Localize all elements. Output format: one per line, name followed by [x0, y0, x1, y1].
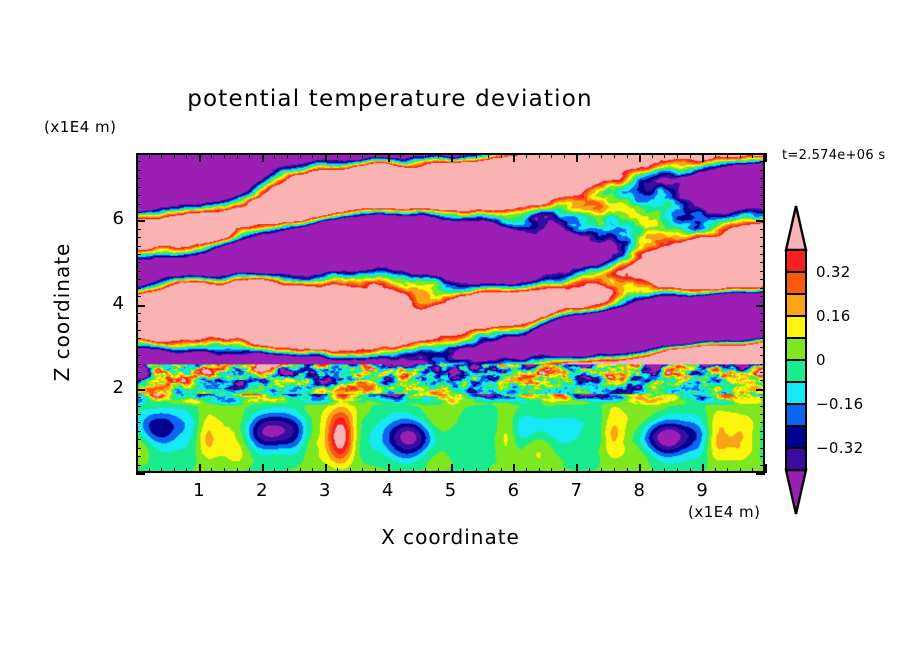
x-tick-major	[451, 464, 453, 473]
y-tick-minor	[136, 313, 141, 314]
x-tick-top-major	[325, 153, 327, 162]
y-tick-right-minor	[760, 254, 765, 255]
x-tick-minor	[752, 468, 753, 473]
x-tick-top-minor	[539, 153, 540, 158]
x-tick-top-minor	[476, 153, 477, 158]
x-tick-major	[639, 464, 641, 473]
y-axis-title: Z coordinate	[50, 212, 74, 412]
x-tick-minor	[627, 468, 628, 473]
y-tick-right-minor	[760, 330, 765, 331]
x-tick-top-minor	[300, 153, 301, 158]
x-tick-top-minor	[274, 153, 275, 158]
y-tick-minor	[136, 195, 141, 196]
x-tick-top-minor	[614, 153, 615, 158]
x-tick-minor	[287, 468, 288, 473]
x-tick-minor	[677, 468, 678, 473]
y-tick-right-minor	[760, 321, 765, 322]
x-tick-top-minor	[564, 153, 565, 158]
x-tick-minor	[362, 468, 363, 473]
x-tick-top-minor	[174, 153, 175, 158]
y-tick-minor	[136, 431, 141, 432]
x-tick-minor	[690, 468, 691, 473]
y-tick-right-minor	[760, 262, 765, 263]
x-tick-top-major	[451, 153, 453, 162]
x-tick-top-minor	[715, 153, 716, 158]
x-tick-minor	[300, 468, 301, 473]
x-tick-label: 2	[242, 480, 282, 501]
y-tick-minor	[136, 178, 141, 179]
x-tick-top-major	[199, 153, 201, 162]
x-tick-top-minor	[287, 153, 288, 158]
x-tick-top-minor	[627, 153, 628, 158]
x-tick-minor	[149, 468, 150, 473]
colorbar-band	[786, 316, 806, 338]
x-tick-major	[513, 464, 515, 473]
y-tick-major	[136, 220, 145, 222]
x-tick-minor	[237, 468, 238, 473]
y-tick-label: 4	[84, 293, 124, 314]
x-tick-label: 7	[556, 480, 596, 501]
x-tick-top-minor	[438, 153, 439, 158]
plot-area	[136, 153, 765, 473]
y-tick-minor	[136, 456, 141, 457]
y-tick-minor	[136, 347, 141, 348]
x-tick-top-major	[702, 153, 704, 162]
y-tick-minor	[136, 212, 141, 213]
y-tick-right-minor	[760, 380, 765, 381]
x-tick-label: 5	[431, 480, 471, 501]
y-tick-right-minor	[760, 397, 765, 398]
x-tick-label: 6	[493, 480, 533, 501]
y-tick-minor	[136, 330, 141, 331]
x-tick-minor	[312, 468, 313, 473]
y-tick-right-minor	[760, 422, 765, 423]
x-tick-minor	[274, 468, 275, 473]
x-tick-major	[262, 464, 264, 473]
x-tick-major	[199, 464, 201, 473]
y-tick-right-minor	[760, 364, 765, 365]
y-tick-right-minor	[760, 355, 765, 356]
x-tick-top-minor	[677, 153, 678, 158]
x-tick-top-minor	[752, 153, 753, 158]
colorbar-svg	[782, 204, 810, 516]
y-tick-minor	[136, 271, 141, 272]
y-tick-right-minor	[760, 178, 765, 179]
colorbar-band	[786, 448, 806, 470]
x-tick-minor	[174, 468, 175, 473]
y-tick-right-minor	[760, 414, 765, 415]
x-tick-minor	[664, 468, 665, 473]
x-tick-minor	[350, 468, 351, 473]
x-tick-top-major	[576, 153, 578, 162]
y-tick-minor	[136, 422, 141, 423]
y-tick-right-major	[756, 389, 765, 391]
x-tick-top-minor	[375, 153, 376, 158]
x-tick-minor	[501, 468, 502, 473]
x-tick-minor	[488, 468, 489, 473]
y-tick-right-minor	[760, 153, 765, 154]
x-axis-unit-label: (x1E4 m)	[688, 503, 761, 521]
x-tick-major	[325, 464, 327, 473]
y-tick-minor	[136, 439, 141, 440]
x-tick-minor	[589, 468, 590, 473]
x-tick-minor	[539, 468, 540, 473]
colorbar	[782, 204, 810, 516]
y-tick-right-minor	[760, 161, 765, 162]
y-tick-minor	[136, 448, 141, 449]
y-tick-right-minor	[760, 271, 765, 272]
y-tick-right-major	[756, 305, 765, 307]
colorbar-tick-label: −0.16	[816, 395, 863, 413]
colorbar-over-arrow	[786, 206, 806, 250]
y-tick-right-minor	[760, 229, 765, 230]
y-tick-right-minor	[760, 439, 765, 440]
y-tick-minor	[136, 414, 141, 415]
x-tick-label: 9	[682, 480, 722, 501]
y-tick-right-minor	[760, 204, 765, 205]
y-tick-minor	[136, 161, 141, 162]
x-tick-label: 3	[305, 480, 345, 501]
x-tick-top-minor	[551, 153, 552, 158]
y-tick-minor	[136, 296, 141, 297]
y-tick-minor	[136, 153, 141, 154]
x-tick-minor	[476, 468, 477, 473]
y-tick-right-minor	[760, 347, 765, 348]
x-tick-minor	[652, 468, 653, 473]
x-tick-top-minor	[400, 153, 401, 158]
y-tick-minor	[136, 187, 141, 188]
x-tick-minor	[601, 468, 602, 473]
x-tick-minor	[614, 468, 615, 473]
colorbar-band	[786, 382, 806, 404]
x-tick-top-minor	[224, 153, 225, 158]
y-tick-minor	[136, 246, 141, 247]
x-tick-top-minor	[501, 153, 502, 158]
y-tick-minor	[136, 372, 141, 373]
y-tick-label: 6	[84, 208, 124, 229]
colorbar-band	[786, 272, 806, 294]
y-tick-minor	[136, 229, 141, 230]
x-tick-minor	[211, 468, 212, 473]
y-tick-minor	[136, 364, 141, 365]
x-tick-major	[576, 464, 578, 473]
y-tick-minor	[136, 262, 141, 263]
contour-field-canvas	[138, 155, 763, 471]
x-tick-top-minor	[488, 153, 489, 158]
colorbar-under-arrow	[786, 470, 806, 514]
x-tick-minor	[337, 468, 338, 473]
y-tick-minor	[136, 380, 141, 381]
x-tick-minor	[161, 468, 162, 473]
x-tick-top-minor	[589, 153, 590, 158]
y-tick-right-minor	[760, 170, 765, 171]
y-tick-major	[136, 389, 145, 391]
y-tick-minor	[136, 321, 141, 322]
y-tick-right-minor	[760, 372, 765, 373]
y-tick-right-minor	[760, 448, 765, 449]
page-title: potential temperature deviation	[0, 86, 780, 112]
x-tick-top-major	[262, 153, 264, 162]
x-tick-minor	[224, 468, 225, 473]
y-tick-label: 2	[84, 377, 124, 398]
x-tick-top-major	[513, 153, 515, 162]
y-tick-minor	[136, 338, 141, 339]
x-tick-major	[765, 464, 767, 473]
x-tick-top-minor	[186, 153, 187, 158]
x-tick-top-minor	[337, 153, 338, 158]
y-tick-right-minor	[760, 279, 765, 280]
y-tick-major	[136, 473, 145, 475]
y-tick-right-major	[756, 220, 765, 222]
x-tick-top-minor	[149, 153, 150, 158]
x-tick-top-minor	[425, 153, 426, 158]
x-tick-top-minor	[652, 153, 653, 158]
y-tick-minor	[136, 465, 141, 466]
x-tick-minor	[740, 468, 741, 473]
colorbar-band	[786, 294, 806, 316]
colorbar-tick-label: 0.16	[816, 307, 851, 325]
colorbar-band	[786, 426, 806, 448]
y-tick-minor	[136, 355, 141, 356]
x-tick-top-minor	[249, 153, 250, 158]
x-tick-major	[702, 464, 704, 473]
x-tick-label: 4	[368, 480, 408, 501]
y-tick-right-minor	[760, 456, 765, 457]
x-tick-top-minor	[526, 153, 527, 158]
x-axis-title: X coordinate	[136, 525, 765, 549]
y-tick-minor	[136, 170, 141, 171]
y-tick-right-minor	[760, 431, 765, 432]
x-tick-top-major	[639, 153, 641, 162]
x-tick-top-minor	[463, 153, 464, 158]
x-tick-top-minor	[664, 153, 665, 158]
y-tick-right-minor	[760, 237, 765, 238]
x-tick-minor	[438, 468, 439, 473]
x-tick-minor	[727, 468, 728, 473]
y-tick-minor	[136, 397, 141, 398]
y-tick-right-major	[756, 473, 765, 475]
x-tick-top-minor	[413, 153, 414, 158]
y-tick-minor	[136, 237, 141, 238]
x-tick-minor	[715, 468, 716, 473]
x-tick-minor	[413, 468, 414, 473]
x-tick-minor	[375, 468, 376, 473]
x-tick-top-minor	[312, 153, 313, 158]
y-tick-right-minor	[760, 313, 765, 314]
x-tick-label: 1	[179, 480, 219, 501]
colorbar-band	[786, 338, 806, 360]
y-tick-minor	[136, 279, 141, 280]
x-tick-minor	[463, 468, 464, 473]
y-tick-right-minor	[760, 296, 765, 297]
x-tick-top-minor	[740, 153, 741, 158]
y-tick-right-minor	[760, 212, 765, 213]
y-tick-right-minor	[760, 195, 765, 196]
contour-plot-figure: potential temperature deviation (x1E4 m)…	[0, 0, 904, 654]
y-tick-right-minor	[760, 246, 765, 247]
y-tick-right-minor	[760, 288, 765, 289]
x-tick-top-major	[388, 153, 390, 162]
colorbar-tick-label: −0.32	[816, 439, 863, 457]
y-tick-minor	[136, 254, 141, 255]
x-tick-minor	[249, 468, 250, 473]
x-tick-minor	[400, 468, 401, 473]
y-axis-unit-label: (x1E4 m)	[44, 118, 117, 136]
x-tick-top-minor	[350, 153, 351, 158]
x-tick-top-minor	[690, 153, 691, 158]
x-tick-major	[388, 464, 390, 473]
x-tick-minor	[526, 468, 527, 473]
y-tick-major	[136, 305, 145, 307]
colorbar-band	[786, 250, 806, 272]
x-tick-top-minor	[211, 153, 212, 158]
y-tick-right-minor	[760, 465, 765, 466]
x-tick-top-minor	[727, 153, 728, 158]
y-tick-minor	[136, 406, 141, 407]
y-tick-minor	[136, 288, 141, 289]
x-tick-top-minor	[237, 153, 238, 158]
x-tick-minor	[425, 468, 426, 473]
y-tick-right-minor	[760, 187, 765, 188]
colorbar-tick-label: 0.32	[816, 263, 851, 281]
colorbar-band	[786, 404, 806, 426]
x-tick-top-minor	[362, 153, 363, 158]
colorbar-tick-label: 0	[816, 351, 826, 369]
x-tick-label: 8	[619, 480, 659, 501]
timestamp-annotation: t=2.574e+06 s	[782, 148, 885, 163]
y-tick-right-minor	[760, 338, 765, 339]
x-tick-minor	[564, 468, 565, 473]
x-tick-top-minor	[161, 153, 162, 158]
x-tick-minor	[551, 468, 552, 473]
y-tick-right-minor	[760, 406, 765, 407]
y-tick-minor	[136, 204, 141, 205]
x-tick-minor	[186, 468, 187, 473]
x-tick-top-minor	[601, 153, 602, 158]
colorbar-band	[786, 360, 806, 382]
x-tick-top-major	[765, 153, 767, 162]
